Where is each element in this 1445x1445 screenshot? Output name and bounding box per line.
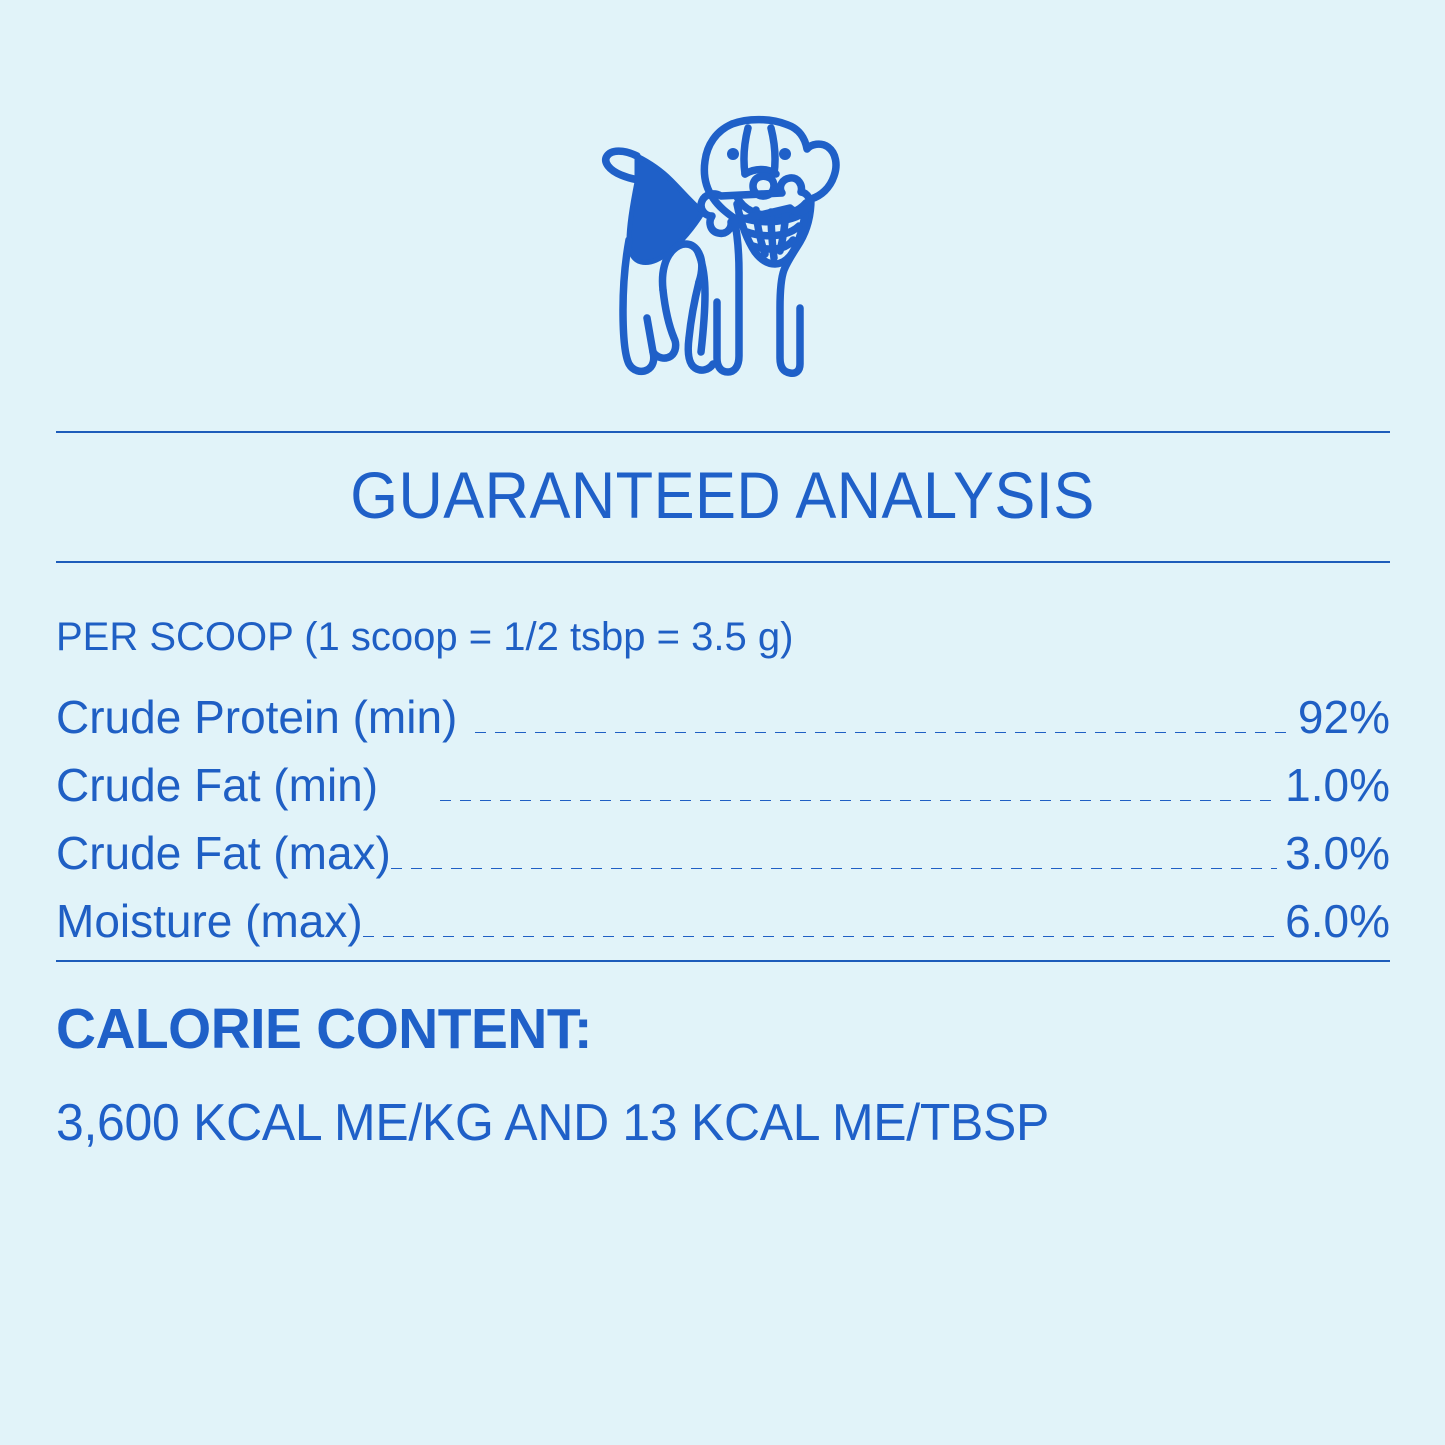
nutrient-value: 6.0% <box>1285 887 1390 955</box>
leader-dots <box>440 800 1277 801</box>
leader-dots <box>391 868 1277 869</box>
nutrition-row: Crude Fat (min) 1.0% <box>56 751 1390 819</box>
calorie-content-value: 3,600 KCAL ME/KG AND 13 KCAL ME/TBSP <box>56 1093 1049 1153</box>
nutrient-label: Moisture (max) <box>56 887 363 955</box>
leader-dots <box>475 732 1290 733</box>
dog-with-bone-logo <box>585 112 857 384</box>
dog-with-bone-logo-graphic <box>585 112 857 384</box>
divider-top <box>56 431 1390 433</box>
divider-bottom <box>56 960 1390 962</box>
nutrition-row: Crude Fat (max) 3.0% <box>56 819 1390 887</box>
nutrient-value: 92% <box>1298 683 1390 751</box>
nutrient-value: 3.0% <box>1285 819 1390 887</box>
nutrient-label: Crude Fat (min) <box>56 751 378 819</box>
nutrition-rows: Crude Protein (min) 92% Crude Fat (min) … <box>56 683 1390 955</box>
divider-middle <box>56 561 1390 563</box>
nutrient-label: Crude Protein (min) <box>56 683 457 751</box>
page-title: GUARANTEED ANALYSIS <box>51 459 1395 531</box>
nutrient-label: Crude Fat (max) <box>56 819 391 887</box>
guaranteed-analysis-panel: GUARANTEED ANALYSIS PER SCOOP (1 scoop =… <box>0 0 1445 1445</box>
leader-dots <box>363 936 1277 937</box>
calorie-content-title: CALORIE CONTENT: <box>56 997 592 1061</box>
nutrition-row: Crude Protein (min) 92% <box>56 683 1390 751</box>
nutrient-value: 1.0% <box>1285 751 1390 819</box>
nutrition-row: Moisture (max) 6.0% <box>56 887 1390 955</box>
serving-size-note: PER SCOOP (1 scoop = 1/2 tsbp = 3.5 g) <box>56 614 793 660</box>
